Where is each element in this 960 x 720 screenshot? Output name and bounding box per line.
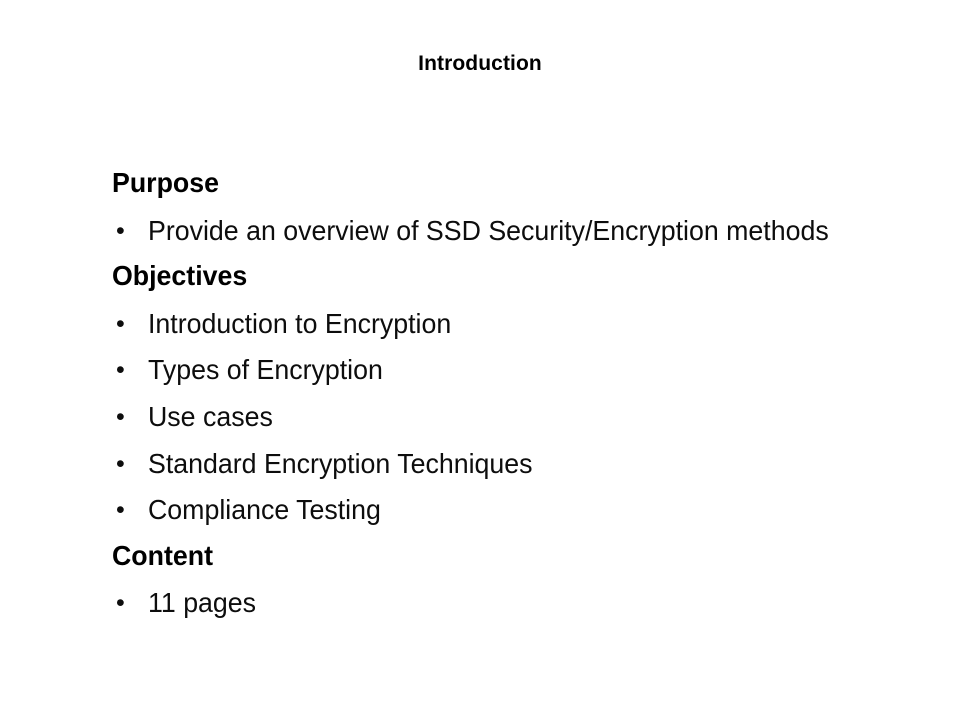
- bullet-icon: •: [112, 306, 148, 342]
- list-item-label: Introduction to Encryption: [148, 306, 451, 342]
- list-item: • Standard Encryption Techniques: [112, 446, 932, 493]
- bullet-icon: •: [112, 352, 148, 388]
- bullet-icon: •: [112, 213, 148, 249]
- list-item-label: Standard Encryption Techniques: [148, 446, 533, 482]
- list-item: • Provide an overview of SSD Security/En…: [112, 213, 932, 260]
- list-item-label: Compliance Testing: [148, 492, 381, 528]
- section-heading-content: Content: [112, 539, 932, 586]
- bullet-icon: •: [112, 492, 148, 528]
- slide: Introduction Purpose • Provide an overvi…: [0, 0, 960, 720]
- list-item-label: Use cases: [148, 399, 273, 435]
- slide-body: Purpose • Provide an overview of SSD Sec…: [112, 166, 932, 632]
- bullet-icon: •: [112, 585, 148, 621]
- list-item: • Compliance Testing: [112, 492, 932, 539]
- list-item: • Introduction to Encryption: [112, 306, 932, 353]
- list-item-label: Provide an overview of SSD Security/Encr…: [148, 213, 829, 249]
- section-heading-purpose: Purpose: [112, 166, 932, 213]
- list-item: • Types of Encryption: [112, 352, 932, 399]
- bullet-icon: •: [112, 399, 148, 435]
- list-item: • Use cases: [112, 399, 932, 446]
- list-item-label: 11 pages: [148, 585, 256, 621]
- list-item: • 11 pages: [112, 585, 932, 632]
- section-heading-label: Objectives: [112, 259, 247, 293]
- list-item-label: Types of Encryption: [148, 352, 383, 388]
- section-heading-label: Purpose: [112, 166, 219, 200]
- section-heading-label: Content: [112, 539, 213, 573]
- page-title: Introduction: [0, 51, 960, 77]
- section-heading-objectives: Objectives: [112, 259, 932, 306]
- bullet-icon: •: [112, 446, 148, 482]
